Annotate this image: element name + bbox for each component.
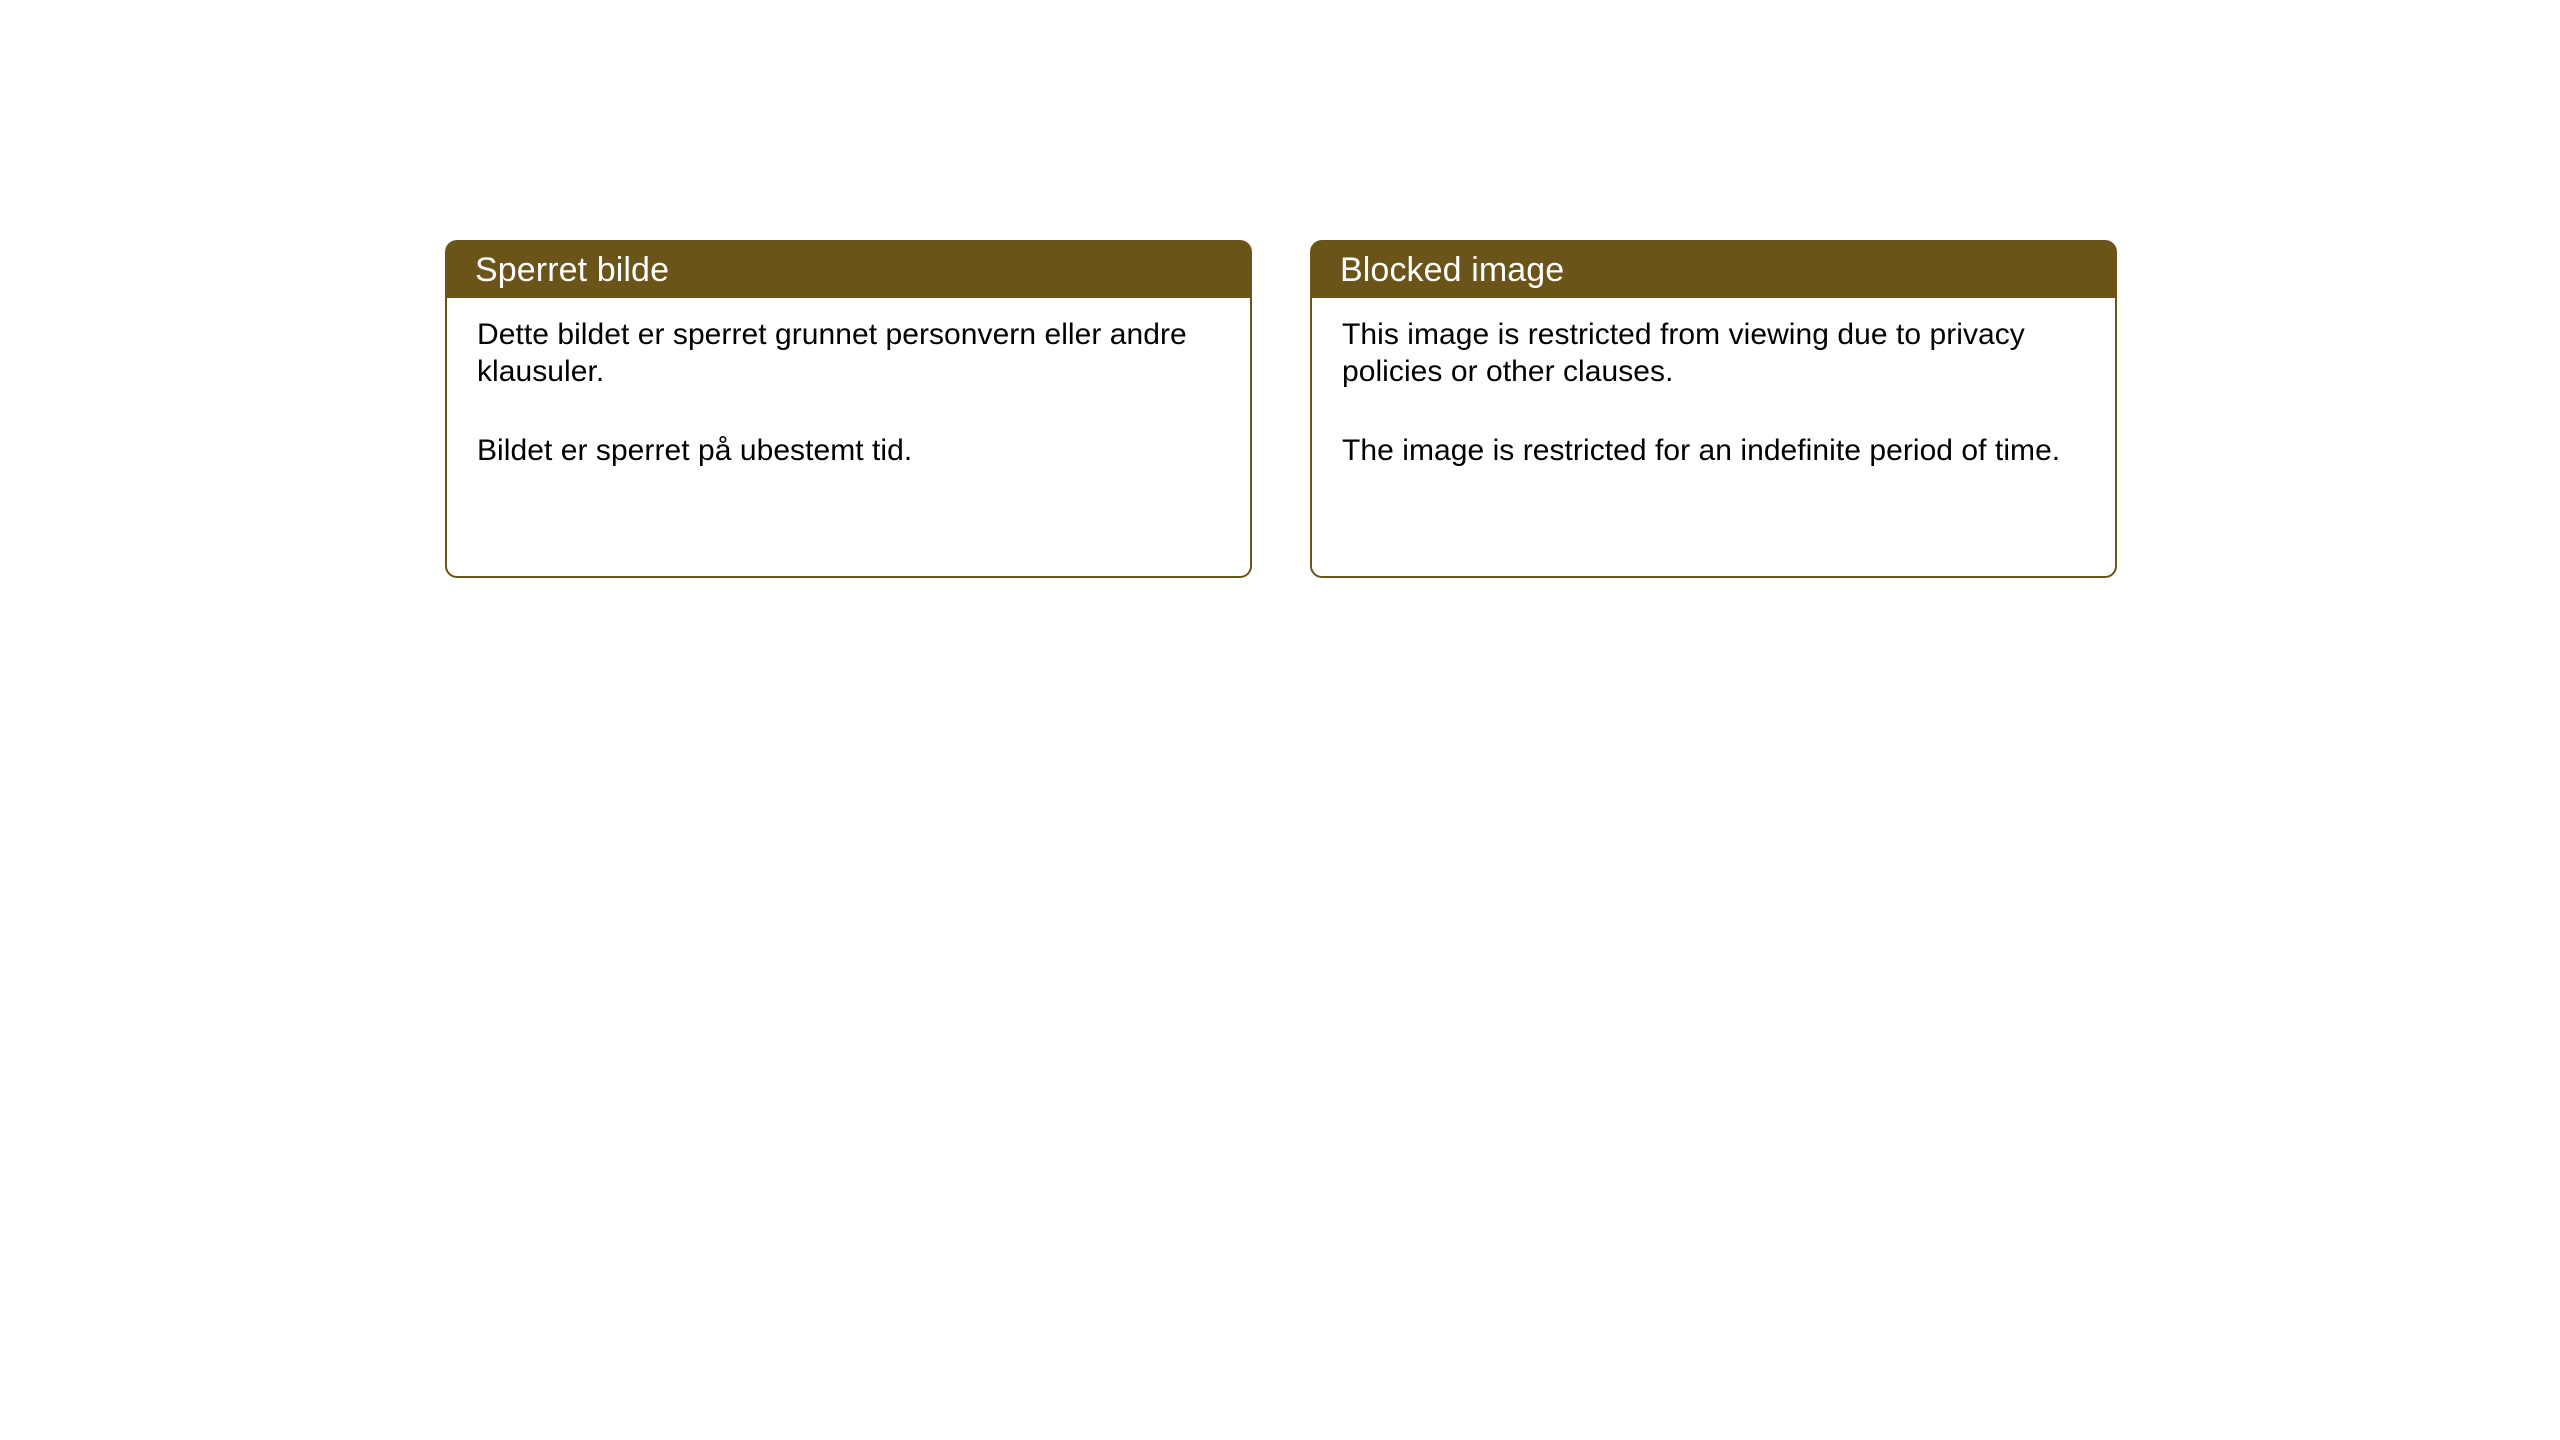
- card-header-english: Blocked image: [1310, 240, 2117, 300]
- blocked-image-card-english: Blocked image This image is restricted f…: [1310, 240, 2117, 578]
- card-body-norwegian: Dette bildet er sperret grunnet personve…: [445, 298, 1252, 578]
- card-body-english: This image is restricted from viewing du…: [1310, 298, 2117, 578]
- card-paragraph-duration-norwegian: Bildet er sperret på ubestemt tid.: [477, 432, 1224, 469]
- card-title-english: Blocked image: [1310, 251, 1564, 289]
- card-paragraph-privacy-english: This image is restricted from viewing du…: [1342, 316, 2089, 390]
- card-title-norwegian: Sperret bilde: [445, 251, 669, 289]
- blocked-image-card-norwegian: Sperret bilde Dette bildet er sperret gr…: [445, 240, 1252, 578]
- card-header-norwegian: Sperret bilde: [445, 240, 1252, 300]
- card-paragraph-duration-english: The image is restricted for an indefinit…: [1342, 432, 2089, 469]
- card-paragraph-privacy-norwegian: Dette bildet er sperret grunnet personve…: [477, 316, 1224, 390]
- page-root: Sperret bilde Dette bildet er sperret gr…: [0, 0, 2560, 1440]
